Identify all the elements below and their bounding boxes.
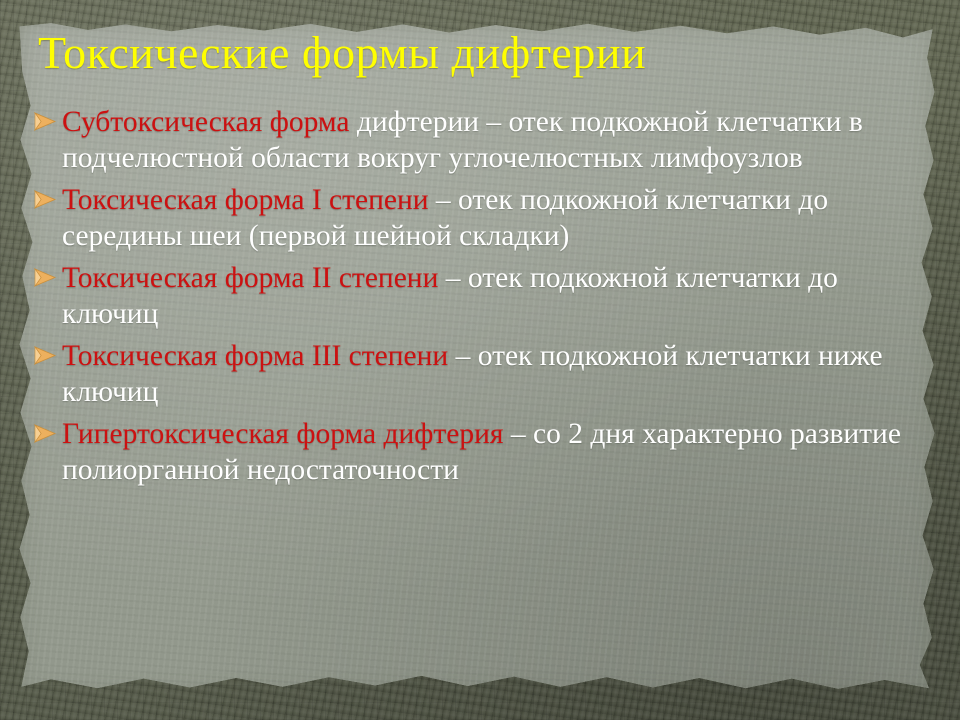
bullet-list: Субтоксическая форма дифтерии – отек под… xyxy=(32,104,932,494)
bullet-item-5: Гипертоксическая форма дифтерия – со 2 д… xyxy=(32,416,932,488)
arrowhead-bullet-icon xyxy=(32,421,58,455)
bullet-item-4: Токсическая форма III степени – отек под… xyxy=(32,338,932,410)
bullet-item-1: Субтоксическая форма дифтерии – отек под… xyxy=(32,104,932,176)
bullet-item-3: Токсическая форма II степени – отек подк… xyxy=(32,260,932,332)
bullet-text-5: Гипертоксическая форма дифтерия – со 2 д… xyxy=(62,416,932,488)
arrowhead-bullet-icon xyxy=(32,265,58,299)
bullet-item-2: Токсическая форма I степени – отек подко… xyxy=(32,182,932,254)
slide-content: Токсические формы дифтерии Субтоксическа… xyxy=(0,0,960,720)
bullet-highlight-3: Токсическая форма II степени xyxy=(62,262,438,294)
bullet-text-4: Токсическая форма III степени – отек под… xyxy=(62,338,932,410)
bullet-text-2: Токсическая форма I степени – отек подко… xyxy=(62,182,932,254)
bullet-highlight-5: Гипертоксическая форма дифтерия xyxy=(62,418,503,450)
arrowhead-bullet-icon xyxy=(32,187,58,221)
bullet-highlight-4: Токсическая форма III степени xyxy=(62,340,448,372)
bullet-text-3: Токсическая форма II степени – отек подк… xyxy=(62,260,932,332)
arrowhead-bullet-icon xyxy=(32,109,58,143)
slide-background: Токсические формы дифтерии Субтоксическа… xyxy=(0,0,960,720)
bullet-highlight-2: Токсическая форма I степени xyxy=(62,184,429,216)
bullet-highlight-1: Субтоксическая форма xyxy=(62,106,349,138)
arrowhead-bullet-icon xyxy=(32,343,58,377)
bullet-text-1: Субтоксическая форма дифтерии – отек под… xyxy=(62,104,932,176)
slide-title: Токсические формы дифтерии xyxy=(38,28,928,78)
